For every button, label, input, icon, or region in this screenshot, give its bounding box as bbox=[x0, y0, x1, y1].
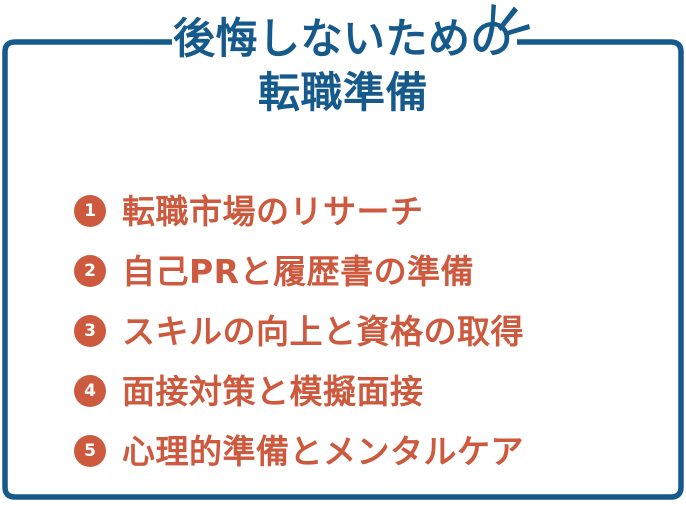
steps-list: 1 転職市場のリサーチ 2 自己PRと履歴書の準備 3 スキルの向上と資格の取得… bbox=[74, 181, 654, 481]
step-number-badge: 2 bbox=[74, 255, 106, 287]
list-item: 5 心理的準備とメンタルケア bbox=[74, 421, 654, 481]
step-number-badge: 5 bbox=[74, 435, 106, 467]
step-label: 心理的準備とメンタルケア bbox=[122, 435, 524, 468]
step-label: 自己PRと履歴書の準備 bbox=[122, 255, 474, 288]
poster-root: 後悔しないための 転職準備 1 転職市場のリサーチ 2 自己PRと履歴書の準備 … bbox=[0, 0, 686, 506]
step-number-badge: 3 bbox=[74, 315, 106, 347]
page-title-line-2: 転職準備 bbox=[0, 72, 686, 114]
step-number-badge: 1 bbox=[74, 195, 106, 227]
step-number-badge: 4 bbox=[74, 375, 106, 407]
step-label: スキルの向上と資格の取得 bbox=[122, 315, 524, 348]
sparkle-icon bbox=[478, 0, 536, 46]
step-label: 面接対策と模擬面接 bbox=[122, 375, 424, 408]
list-item: 2 自己PRと履歴書の準備 bbox=[74, 241, 654, 301]
step-label: 転職市場のリサーチ bbox=[122, 195, 424, 228]
list-item: 4 面接対策と模擬面接 bbox=[74, 361, 654, 421]
list-item: 3 スキルの向上と資格の取得 bbox=[74, 301, 654, 361]
page-title: 後悔しないための 転職準備 bbox=[0, 18, 686, 114]
page-title-line-1: 後悔しないための bbox=[0, 18, 686, 60]
list-item: 1 転職市場のリサーチ bbox=[74, 181, 654, 241]
